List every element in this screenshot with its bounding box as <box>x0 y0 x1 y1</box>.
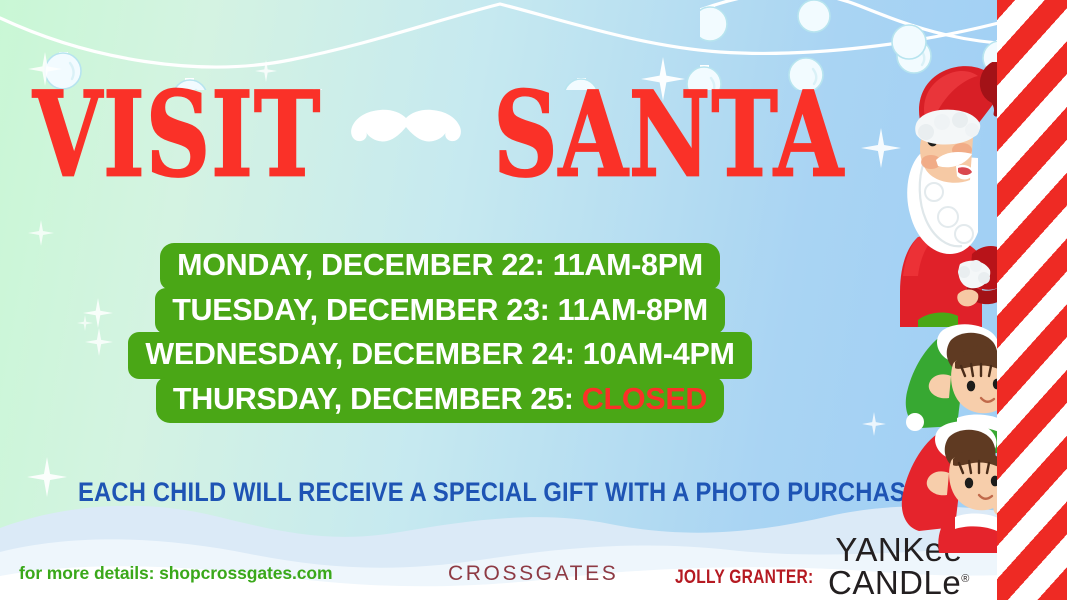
schedule-list: MONDAY, DECEMBER 22: 11AM-8PM TUESDAY, D… <box>0 243 880 423</box>
schedule-row-thursday: THURSDAY, DECEMBER 25: CLOSED <box>156 377 724 424</box>
schedule-row-wednesday-text: WEDNESDAY, DECEMBER 24: 10AM-4PM <box>145 337 734 371</box>
mustache-icon <box>350 108 462 162</box>
page-title: VISIT SANTA <box>0 88 880 182</box>
candy-stripe-banner-icon <box>997 0 1067 600</box>
yankee-candle-logo-line2: CANDLe® <box>828 566 970 599</box>
schedule-row-wednesday: WEDNESDAY, DECEMBER 24: 10AM-4PM <box>128 332 751 379</box>
schedule-row-thursday-text: THURSDAY, DECEMBER 25: <box>173 382 582 416</box>
schedule-row-monday-text: MONDAY, DECEMBER 22: 11AM-8PM <box>177 248 703 282</box>
crossgates-logo: CROSSGATES <box>448 562 618 586</box>
more-details-link[interactable]: for more details: shopcrossgates.com <box>19 563 332 584</box>
schedule-row-tuesday: TUESDAY, DECEMBER 23: 11AM-8PM <box>155 288 725 335</box>
santa-character-icon <box>874 62 1014 327</box>
headline-word-santa: SANTA <box>494 78 845 193</box>
visit-santa-poster: VISIT SANTA MONDAY, DECEMBER 22: 11AM-8P… <box>0 0 1067 600</box>
registered-mark-icon: ® <box>961 573 970 585</box>
schedule-row-monday: MONDAY, DECEMBER 22: 11AM-8PM <box>160 243 720 290</box>
status-badge-closed: CLOSED <box>582 382 707 416</box>
schedule-row-tuesday-text: TUESDAY, DECEMBER 23: 11AM-8PM <box>172 293 708 327</box>
yankee-candle-logo-line2-text: CANDLe <box>828 564 961 600</box>
jolly-granter-label: JOLLY GRANTER: <box>675 567 814 589</box>
headline-word-visit: VISIT <box>33 78 321 193</box>
